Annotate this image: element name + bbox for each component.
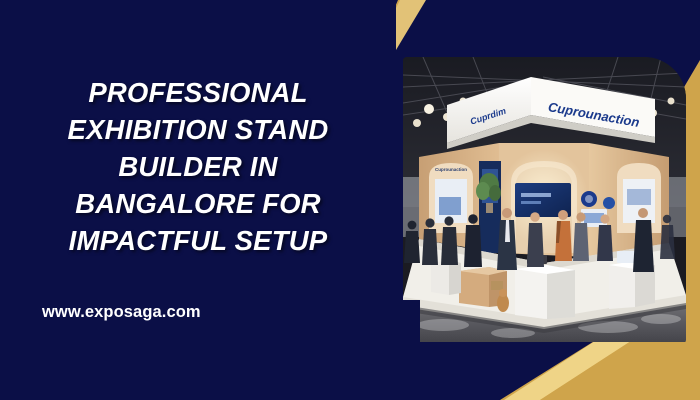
website-url[interactable]: www.exposaga.com — [42, 303, 201, 322]
svg-text:Cuprounaction: Cuprounaction — [435, 167, 467, 172]
text-panel: PROFESSIONAL EXHIBITION STAND BUILDER IN… — [0, 0, 396, 400]
promo-banner: Cuprdim Cuprounaction Cuprounaction — [0, 0, 700, 400]
exhibition-stand-photo: Cuprdim Cuprounaction Cuprounaction — [403, 57, 686, 342]
page-title: PROFESSIONAL EXHIBITION STAND BUILDER IN… — [14, 74, 382, 259]
